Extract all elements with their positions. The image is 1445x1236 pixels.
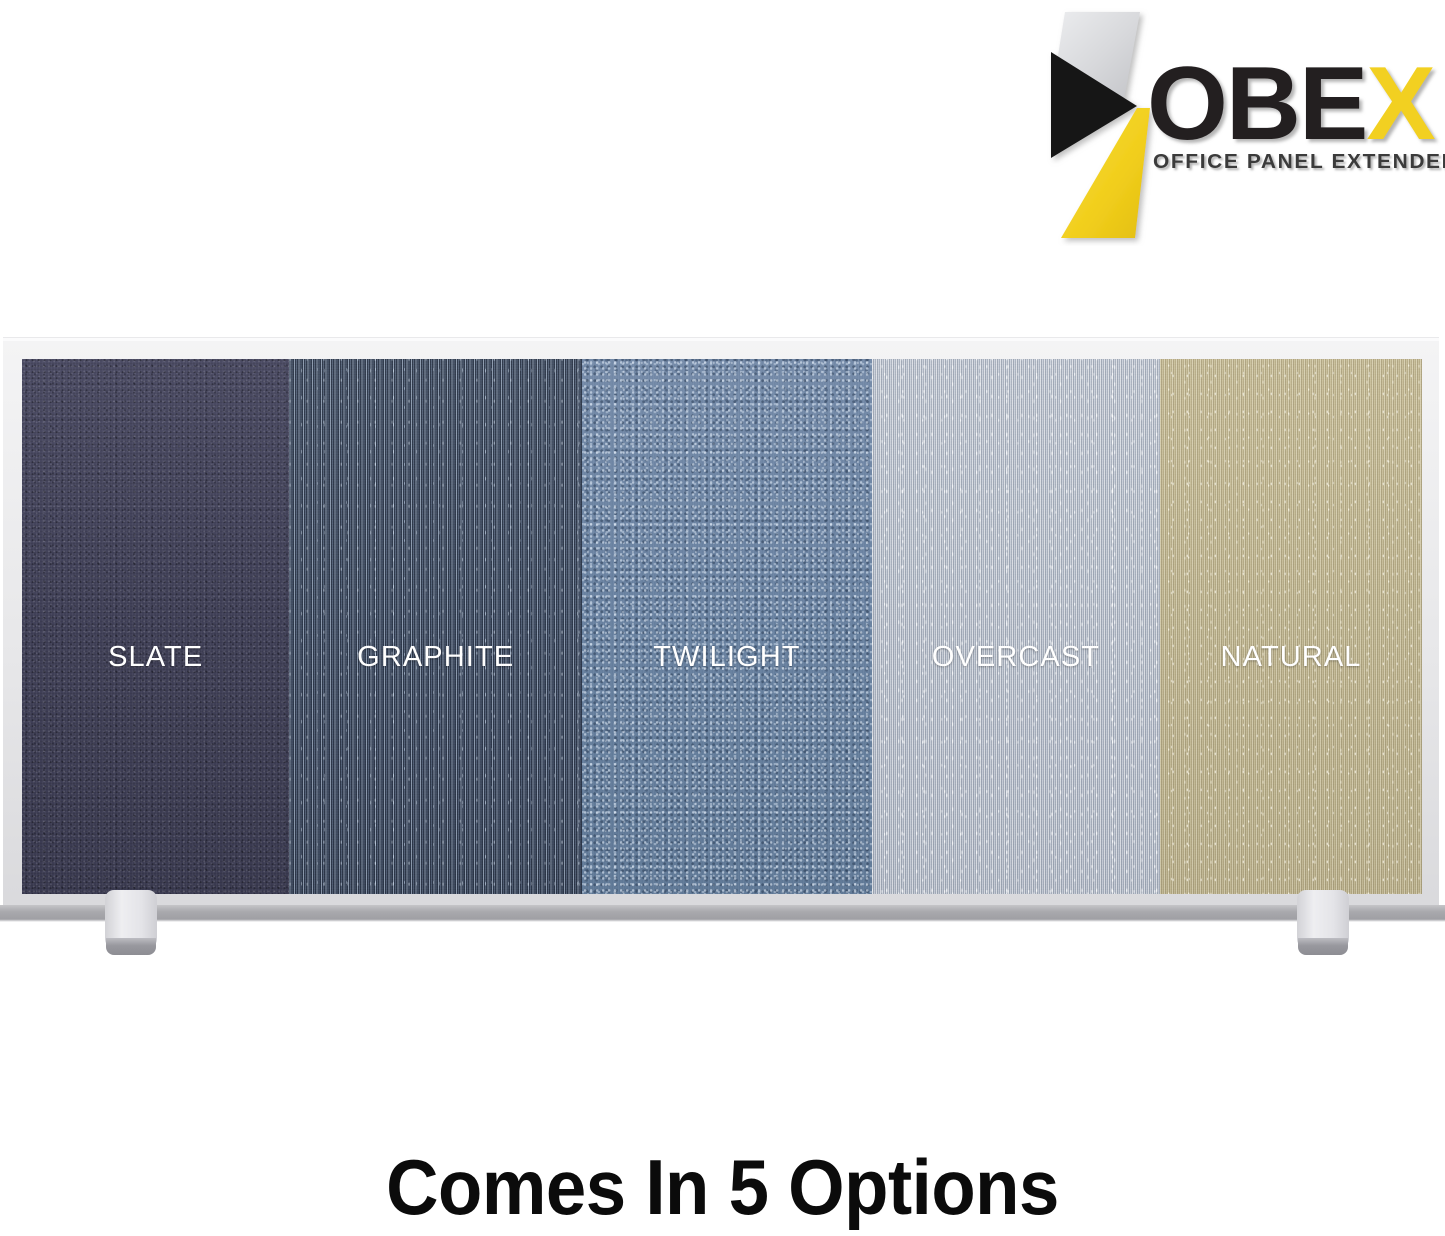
caption-text: Comes In 5 Options <box>51 1146 1395 1228</box>
obex-tagline: OFFICE PANEL EXTENDERS <box>1153 150 1445 174</box>
left-bracket-foot <box>106 938 156 955</box>
right-bracket-foot <box>1298 938 1348 955</box>
panel-rail-shadow-edge <box>0 919 1445 922</box>
swatch-overcast[interactable]: OVERCAST <box>872 359 1160 894</box>
swatch-natural[interactable]: NATURAL <box>1160 359 1422 894</box>
obex-logo-mark-icon <box>1037 6 1157 246</box>
swatch-natural-texture <box>1160 359 1422 894</box>
obex-wordmark-accent: X <box>1366 46 1433 162</box>
obex-wordmark-prefix: OBE <box>1147 46 1366 162</box>
panel-extender-product: SLATE GRAPHITE TWILIGHT OVERCAST NATURAL <box>0 330 1445 1000</box>
swatch-graphite[interactable]: GRAPHITE <box>289 359 582 894</box>
swatch-overcast-label: OVERCAST <box>932 641 1100 674</box>
swatch-overcast-texture <box>872 359 1160 894</box>
swatch-slate-label: SLATE <box>108 641 203 674</box>
left-mounting-bracket <box>105 890 157 960</box>
obex-logo: OBEX OFFICE PANEL EXTENDERS <box>1029 4 1439 252</box>
swatch-twilight[interactable]: TWILIGHT <box>582 359 872 894</box>
swatch-natural-label: NATURAL <box>1221 641 1362 674</box>
right-mounting-bracket <box>1297 890 1349 960</box>
swatch-slate-texture <box>22 359 289 894</box>
swatch-twilight-texture <box>582 359 872 894</box>
panel-frame: SLATE GRAPHITE TWILIGHT OVERCAST NATURAL <box>3 337 1439 919</box>
obex-wordmark: OBEX OFFICE PANEL EXTENDERS <box>1147 52 1439 192</box>
swatch-graphite-label: GRAPHITE <box>357 641 514 674</box>
swatch-graphite-texture <box>289 359 582 894</box>
swatch-twilight-label: TWILIGHT <box>653 641 800 674</box>
swatch-slate[interactable]: SLATE <box>22 359 289 894</box>
fabric-swatch-strip: SLATE GRAPHITE TWILIGHT OVERCAST NATURAL <box>22 359 1422 894</box>
obex-wordmark-text: OBEX <box>1147 52 1434 156</box>
